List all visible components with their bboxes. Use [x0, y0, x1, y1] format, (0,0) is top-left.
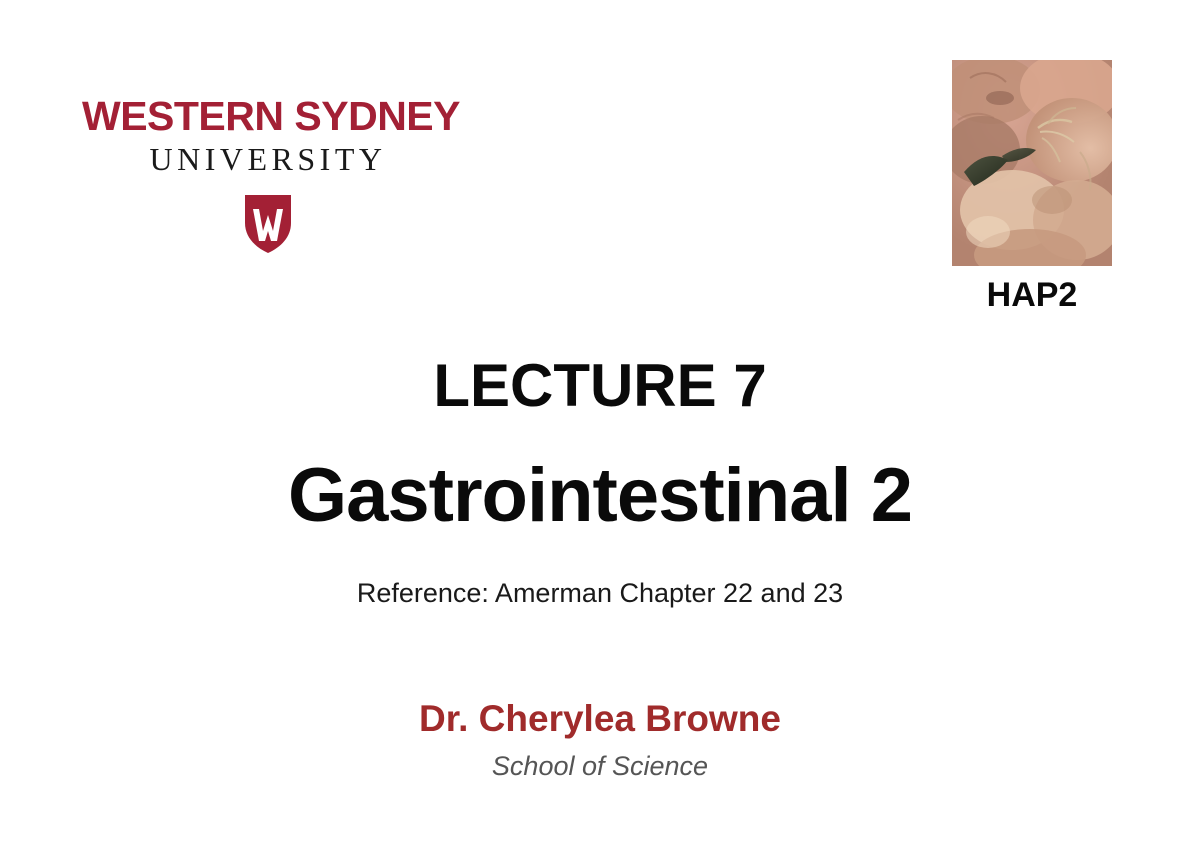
presenter-affiliation: School of Science: [0, 753, 1200, 780]
presenter-name: Dr. Cherylea Browne: [0, 700, 1200, 737]
presenter-block: Dr. Cherylea Browne School of Science: [0, 700, 1200, 780]
university-wordmark-line2: UNIVERSITY: [82, 143, 454, 175]
university-logo: WESTERN SYDNEY UNIVERSITY: [82, 96, 482, 255]
university-wordmark-line1: WESTERN SYDNEY: [82, 96, 482, 137]
reference-text: Reference: Amerman Chapter 22 and 23: [0, 580, 1200, 607]
lecture-topic-title: Gastrointestinal 2: [0, 458, 1200, 534]
title-block: LECTURE 7 Gastrointestinal 2 Reference: …: [0, 356, 1200, 607]
university-shield-wrap: [82, 193, 454, 255]
title-slide: WESTERN SYDNEY UNIVERSITY: [0, 0, 1200, 848]
shield-icon: [243, 193, 293, 255]
lecture-number: LECTURE 7: [0, 356, 1200, 416]
anatomy-photo-graphic: [952, 60, 1112, 266]
unit-code-label: HAP2: [952, 278, 1112, 312]
cadaver-dissection-photo: [952, 60, 1112, 266]
